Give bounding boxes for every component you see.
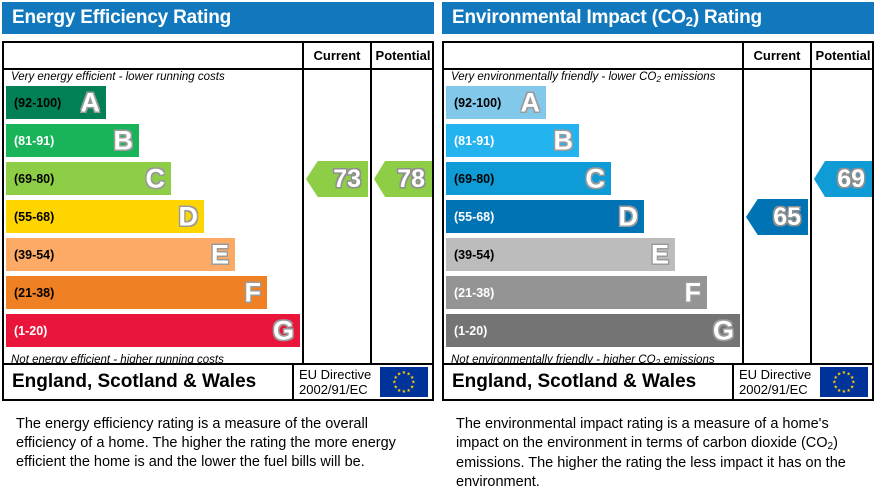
band-range-c: (69-80) — [14, 172, 54, 186]
band-bar-c: (69-80)C — [6, 162, 171, 195]
band-bar-g: (1-20)G — [446, 314, 740, 347]
environmental-impact-panel: Environmental Impact (CO2) Rating Curren… — [442, 0, 876, 493]
column-header-current: Current — [304, 43, 370, 68]
footer-directive-environmental: EU Directive 2002/91/EC — [739, 367, 811, 397]
footer-region-environmental: England, Scotland & Wales — [452, 371, 696, 393]
footer-divider-environmental — [732, 365, 734, 399]
svg-text:★: ★ — [837, 371, 842, 377]
header-divider — [444, 68, 872, 70]
top-note-environmental-post: emissions — [661, 71, 715, 83]
band-range-d: (55-68) — [14, 210, 54, 224]
band-letter-g: G — [713, 317, 734, 344]
environmental-description: The environmental impact rating is a mea… — [456, 415, 856, 492]
band-range-a: (92-100) — [454, 96, 501, 110]
environmental-band-bars: (92-100)A(81-91)B(69-80)C(55-68)D(39-54)… — [446, 86, 740, 352]
energy-footer: England, Scotland & Wales EU Directive 2… — [2, 363, 434, 401]
band-letter-a: A — [521, 89, 541, 116]
eu-flag-icon-environmental: ★★★★★★★★★★★★ — [820, 367, 868, 397]
footer-directive-line1-energy: EU Directive — [299, 367, 371, 382]
band-range-e: (39-54) — [14, 248, 54, 262]
environmental-impact-table: Current Potential Very environmentally f… — [442, 41, 874, 399]
column-header-current: Current — [744, 43, 810, 68]
band-letter-d: D — [619, 203, 639, 230]
energy-description: The energy efficiency rating is a measur… — [16, 415, 416, 472]
svg-text:★: ★ — [406, 388, 411, 394]
footer-directive-line2-energy: 2002/91/EC — [299, 382, 371, 397]
band-letter-c: C — [586, 165, 606, 192]
band-letter-f: F — [245, 279, 262, 306]
energy-description-text: The energy efficiency rating is a measur… — [16, 416, 396, 470]
band-bar-f: (21-38)F — [446, 276, 707, 309]
header-divider — [4, 68, 432, 70]
band-range-e: (39-54) — [454, 248, 494, 262]
current-rating-value-energy: 73 — [333, 167, 361, 192]
band-bar-e: (39-54)E — [6, 238, 235, 271]
band-bar-b: (81-91)B — [6, 124, 139, 157]
band-letter-d: D — [179, 203, 199, 230]
top-note-energy-text: Very energy efficient - lower running co… — [11, 71, 225, 83]
environmental-impact-title-pre: Environmental Impact (CO — [452, 7, 686, 28]
top-note-environmental-subscript: 2 — [656, 74, 661, 84]
current-rating-arrow-environmental: 65 — [746, 199, 808, 235]
environmental-impact-title: Environmental Impact (CO2) Rating — [442, 2, 874, 34]
column-header-potential: Potential — [372, 43, 434, 68]
footer-directive-line1-environmental: EU Directive — [739, 367, 811, 382]
environmental-impact-title-post: ) Rating — [693, 7, 762, 28]
environmental-footer: England, Scotland & Wales EU Directive 2… — [442, 363, 874, 401]
energy-band-bars: (92-100)A(81-91)B(69-80)C(55-68)D(39-54)… — [6, 86, 300, 352]
band-range-b: (81-91) — [454, 134, 494, 148]
potential-column-divider — [810, 43, 812, 397]
band-bar-e: (39-54)E — [446, 238, 675, 271]
potential-rating-value-energy: 78 — [397, 167, 425, 192]
eu-flag-icon-energy: ★★★★★★★★★★★★ — [380, 367, 428, 397]
band-letter-e: E — [211, 241, 229, 268]
band-bar-f: (21-38)F — [6, 276, 267, 309]
svg-text:★: ★ — [842, 389, 847, 395]
top-note-environmental: Very environmentally friendly - lower CO… — [451, 71, 737, 83]
footer-divider-energy — [292, 365, 294, 399]
energy-efficiency-table: Current Potential Very energy efficient … — [2, 41, 434, 399]
band-bar-c: (69-80)C — [446, 162, 611, 195]
band-bar-b: (81-91)B — [446, 124, 579, 157]
energy-efficiency-panel: Energy Efficiency Rating Current Potenti… — [2, 0, 436, 493]
band-letter-g: G — [273, 317, 294, 344]
environmental-description-pre: The environmental impact rating is a mea… — [456, 416, 829, 451]
potential-column-divider — [370, 43, 372, 397]
footer-directive-line2-environmental: 2002/91/EC — [739, 382, 811, 397]
band-range-g: (1-20) — [454, 324, 487, 338]
svg-text:★: ★ — [846, 388, 851, 394]
band-letter-a: A — [81, 89, 101, 116]
epc-rating-graphs: Energy Efficiency Rating Current Potenti… — [0, 0, 880, 493]
band-bar-a: (92-100)A — [446, 86, 546, 119]
current-column-divider — [742, 43, 744, 397]
energy-efficiency-title-text: Energy Efficiency Rating — [12, 7, 231, 28]
band-range-f: (21-38) — [454, 286, 494, 300]
band-range-b: (81-91) — [14, 134, 54, 148]
band-range-f: (21-38) — [14, 286, 54, 300]
band-letter-c: C — [146, 165, 166, 192]
band-bar-g: (1-20)G — [6, 314, 300, 347]
band-range-d: (55-68) — [454, 210, 494, 224]
energy-efficiency-title: Energy Efficiency Rating — [2, 2, 434, 34]
footer-directive-energy: EU Directive 2002/91/EC — [299, 367, 371, 397]
band-bar-a: (92-100)A — [6, 86, 106, 119]
band-range-c: (69-80) — [454, 172, 494, 186]
environmental-description-subscript: 2 — [828, 441, 834, 452]
band-letter-e: E — [651, 241, 669, 268]
band-range-a: (92-100) — [14, 96, 61, 110]
top-note-energy: Very energy efficient - lower running co… — [11, 71, 297, 83]
band-bar-d: (55-68)D — [446, 200, 644, 233]
band-bar-d: (55-68)D — [6, 200, 204, 233]
potential-rating-value-environmental: 69 — [837, 167, 865, 192]
current-column-divider — [302, 43, 304, 397]
column-header-potential: Potential — [812, 43, 874, 68]
svg-text:★: ★ — [397, 371, 402, 377]
band-letter-f: F — [685, 279, 702, 306]
current-rating-value-environmental: 65 — [773, 205, 801, 230]
svg-text:★: ★ — [402, 389, 407, 395]
footer-region-energy: England, Scotland & Wales — [12, 371, 256, 393]
band-range-g: (1-20) — [14, 324, 47, 338]
current-rating-arrow-energy: 73 — [306, 161, 368, 197]
environmental-impact-title-subscript: 2 — [686, 14, 693, 29]
top-note-environmental-pre: Very environmentally friendly - lower CO — [451, 71, 656, 83]
band-letter-b: B — [114, 127, 134, 154]
potential-rating-arrow-energy: 78 — [374, 161, 432, 197]
band-letter-b: B — [554, 127, 574, 154]
potential-rating-arrow-environmental: 69 — [814, 161, 872, 197]
